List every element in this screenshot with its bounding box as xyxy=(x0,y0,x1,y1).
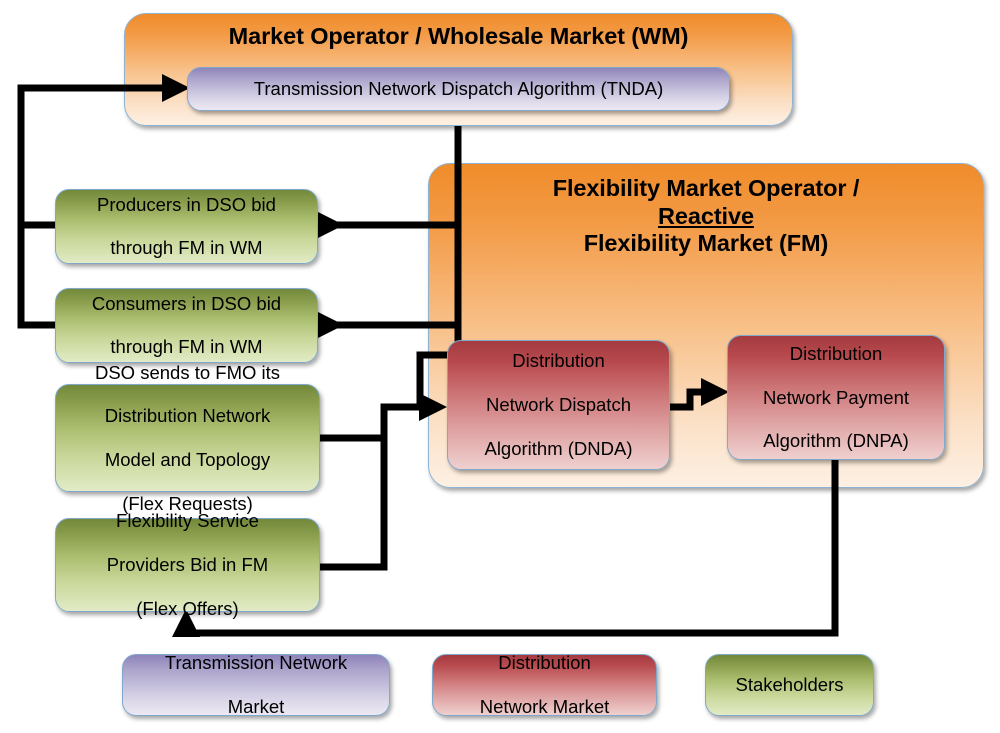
arrowhead-to-producers xyxy=(316,211,344,239)
node-producers-label: Producers in DSO bid through FM in WM xyxy=(62,194,311,259)
node-consumers-line1: Consumers in DSO bid xyxy=(62,293,311,315)
legend-item-transmission-network-market: Transmission Network Market xyxy=(122,654,390,716)
node-fsp-line3: (Flex Offers) xyxy=(62,598,313,620)
flexibility-market-title-line2: Reactive Flexibility Market (FM) xyxy=(553,203,860,258)
node-producers-line2: through FM in WM xyxy=(62,237,311,259)
legend-distribution-line1: Distribution xyxy=(439,652,650,674)
node-dnpa-line2: Network Payment xyxy=(734,387,938,409)
node-consumers-line2: through FM in WM xyxy=(62,336,311,358)
arrowhead-to-consumers xyxy=(316,311,344,339)
node-dnpa-line3: Algorithm (DNPA) xyxy=(734,430,938,452)
diagram-canvas: Market Operator / Wholesale Market (WM) … xyxy=(0,0,1000,733)
node-producers[interactable]: Producers in DSO bid through FM in WM xyxy=(55,189,318,264)
legend-transmission-line2: Market xyxy=(129,696,383,718)
node-dnpa[interactable]: Distribution Network Payment Algorithm (… xyxy=(727,335,945,460)
legend-stakeholders-label: Stakeholders xyxy=(712,674,867,696)
node-dnpa-label: Distribution Network Payment Algorithm (… xyxy=(734,343,938,452)
node-consumers[interactable]: Consumers in DSO bid through FM in WM xyxy=(55,288,318,363)
node-dso-line2: Distribution Network xyxy=(62,405,313,427)
node-flexibility-service-providers[interactable]: Flexibility Service Providers Bid in FM … xyxy=(55,518,320,612)
legend-distribution-label: Distribution Network Market xyxy=(439,652,650,717)
node-fsp-line1: Flexibility Service xyxy=(62,510,313,532)
node-producers-line1: Producers in DSO bid xyxy=(62,194,311,216)
flexibility-market-title-line2-rest: Flexibility Market (FM) xyxy=(553,230,860,258)
node-dso-flex-requests[interactable]: DSO sends to FMO its Distribution Networ… xyxy=(55,384,320,492)
node-dso-label: DSO sends to FMO its Distribution Networ… xyxy=(62,362,313,515)
legend-item-stakeholders: Stakeholders xyxy=(705,654,874,716)
flexibility-market-title-line1: Flexibility Market Operator / xyxy=(553,175,860,203)
node-dso-line3: Model and Topology xyxy=(62,449,313,471)
node-dnpa-line1: Distribution xyxy=(734,343,938,365)
legend-transmission-line1: Transmission Network xyxy=(129,652,383,674)
wholesale-market-title: Market Operator / Wholesale Market (WM) xyxy=(229,16,689,51)
node-tnda[interactable]: Transmission Network Dispatch Algorithm … xyxy=(187,67,730,111)
legend-transmission-label: Transmission Network Market xyxy=(129,652,383,717)
node-fsp-line2: Providers Bid in FM xyxy=(62,554,313,576)
node-fsp-label: Flexibility Service Providers Bid in FM … xyxy=(62,510,313,619)
node-dnda[interactable]: Distribution Network Dispatch Algorithm … xyxy=(447,340,670,470)
reactive-emphasis: Reactive xyxy=(658,203,754,229)
legend-distribution-line2: Network Market xyxy=(439,696,650,718)
flexibility-market-title: Flexibility Market Operator / Reactive F… xyxy=(553,166,860,258)
node-dso-line1: DSO sends to FMO its xyxy=(62,362,313,384)
node-dnda-line3: Algorithm (DNDA) xyxy=(454,438,663,460)
node-dnda-label: Distribution Network Dispatch Algorithm … xyxy=(454,350,663,459)
node-dnda-line1: Distribution xyxy=(454,350,663,372)
link-dso-to-dnda xyxy=(320,407,430,438)
node-consumers-label: Consumers in DSO bid through FM in WM xyxy=(62,293,311,358)
link-fsp-to-dnda xyxy=(320,438,384,567)
legend-item-distribution-network-market: Distribution Network Market xyxy=(432,654,657,716)
node-dnda-line2: Network Dispatch xyxy=(454,394,663,416)
node-tnda-label: Transmission Network Dispatch Algorithm … xyxy=(194,78,723,100)
